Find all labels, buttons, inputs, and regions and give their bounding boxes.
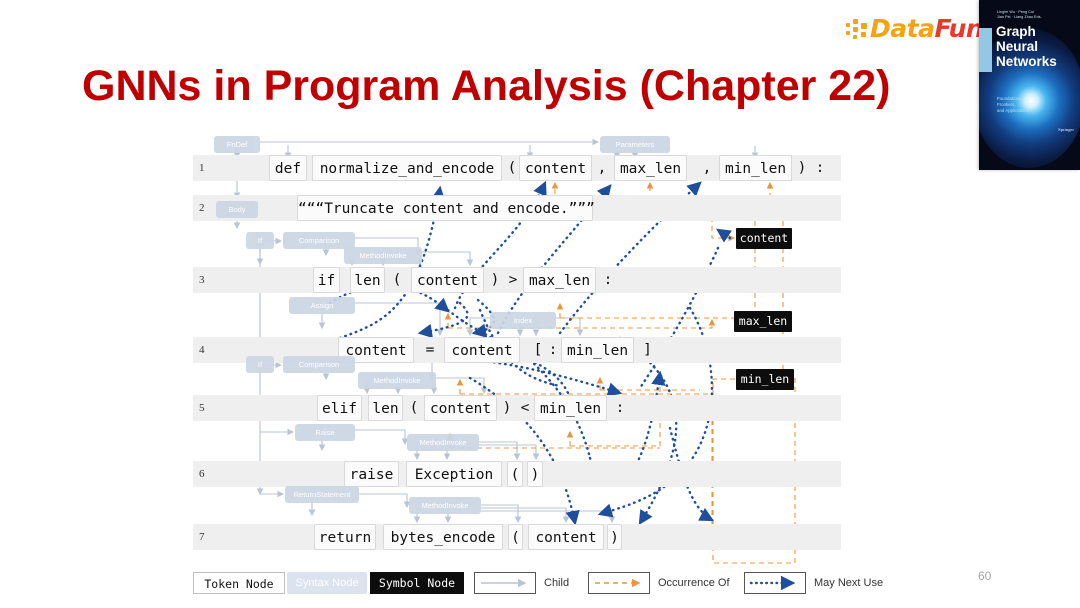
token-node: return (314, 524, 376, 550)
symbol-node: min_len (736, 369, 794, 390)
token-node: bytes_encode (383, 524, 503, 550)
syntax-node: If (246, 232, 274, 249)
book-subtitle: Foundations, Frontiers, and Applications (997, 96, 1067, 115)
token-node: normalize_and_encode (312, 155, 502, 181)
logo-dots-icon (846, 20, 868, 40)
token-node: content (519, 155, 592, 181)
syntax-node: MethodInvoke (407, 434, 479, 451)
token-node: > (506, 267, 520, 293)
may-next-use-arrow-icon (745, 573, 805, 593)
token-node: content (411, 267, 484, 293)
token-node: : (613, 395, 627, 421)
token-node: ( (507, 461, 523, 487)
token-node: ) (795, 155, 809, 181)
token-node: ( (390, 267, 404, 293)
syntax-node: MethodInvoke (409, 497, 481, 514)
occurrence-arrow-icon (589, 573, 649, 593)
token-node: ) (527, 461, 543, 487)
token-node: if (313, 267, 340, 293)
token-node: , (700, 155, 714, 181)
token-node: = (423, 337, 437, 363)
legend-occurrence-swatch (588, 572, 650, 594)
syntax-node: Raise (295, 424, 355, 441)
token-node: ) (488, 267, 502, 293)
token-node: ] (641, 337, 654, 363)
token-node: len (368, 395, 403, 421)
book-authors: Lingfei Wu · Peng Cui Jian Pei · Liang Z… (997, 10, 1075, 21)
syntax-node: Comparison (283, 232, 355, 249)
code-graph-figure: 1 2 3 4 5 6 7 defnormalize_and_encode(co… (0, 128, 1080, 568)
symbol-node: max_len (734, 311, 792, 332)
symbol-node: content (736, 228, 792, 249)
row-number: 7 (199, 524, 221, 550)
token-node: ) (500, 395, 514, 421)
syntax-node: Comparison (283, 356, 355, 373)
legend-maynextuse-label: May Next Use (814, 572, 883, 594)
syntax-node: MethodInvoke (344, 247, 422, 264)
token-node: raise (344, 461, 399, 487)
token-node: [ (532, 337, 544, 363)
syntax-node: If (246, 356, 274, 373)
legend-maynextuse-swatch (744, 572, 806, 594)
syntax-node: Body (216, 201, 258, 218)
slide-number: 60 (978, 569, 991, 583)
datafun-logo: DataFun. (846, 16, 996, 46)
legend: Token Node Syntax Node Symbol Node Child… (193, 572, 893, 596)
token-node: min_len (561, 337, 634, 363)
token-node: min_len (719, 155, 792, 181)
token-node: max_len (523, 267, 596, 293)
token-node: ( (505, 155, 519, 181)
token-node: content (424, 395, 497, 421)
token-node: elif (317, 395, 362, 421)
legend-occurrence-label: Occurrence Of (658, 572, 730, 594)
token-node: def (269, 155, 307, 181)
syntax-node: Parameters (600, 136, 670, 153)
row-number: 1 (199, 155, 221, 181)
row-band (193, 395, 841, 421)
token-node: len (350, 267, 385, 293)
child-arrow-icon (475, 573, 535, 593)
book-title: Graph Neural Networks (996, 24, 1080, 69)
token-node: content (528, 524, 604, 550)
token-node: “““Truncate content and encode.””” (297, 195, 593, 221)
token-node: min_len (534, 395, 607, 421)
legend-child-label: Child (544, 572, 569, 594)
logo-wordmark: DataFun. (870, 14, 992, 43)
token-node: Exception (406, 461, 502, 487)
legend-symbol-node: Symbol Node (370, 572, 464, 594)
syntax-node: ReturnStatement (285, 486, 359, 503)
token-node: max_len (614, 155, 687, 181)
row-number: 4 (199, 337, 221, 363)
logo-data-text: Data (870, 14, 934, 43)
token-node: , (595, 155, 609, 181)
slide-canvas: DataFun. Lingfei Wu · Peng Cui Jian Pei … (0, 0, 1080, 608)
syntax-node: Index (490, 312, 556, 329)
token-node: : (547, 337, 559, 363)
syntax-node: FnDef (214, 136, 260, 153)
token-node: content (444, 337, 520, 363)
legend-token-node: Token Node (193, 572, 285, 594)
legend-child-swatch (474, 572, 536, 594)
token-node: ) (607, 524, 622, 550)
token-node: < (518, 395, 532, 421)
token-node: ( (508, 524, 523, 550)
page-title: GNNs in Program Analysis (Chapter 22) (82, 60, 902, 112)
row-number: 6 (199, 461, 221, 487)
legend-syntax-node: Syntax Node (287, 572, 367, 594)
syntax-node: Assign (289, 297, 355, 314)
book-accent-band (979, 28, 992, 72)
row-number: 3 (199, 267, 221, 293)
token-node: ( (407, 395, 421, 421)
row-number: 5 (199, 395, 221, 421)
token-node: : (601, 267, 615, 293)
token-node: : (813, 155, 827, 181)
syntax-node: MethodInvoke (358, 372, 436, 389)
